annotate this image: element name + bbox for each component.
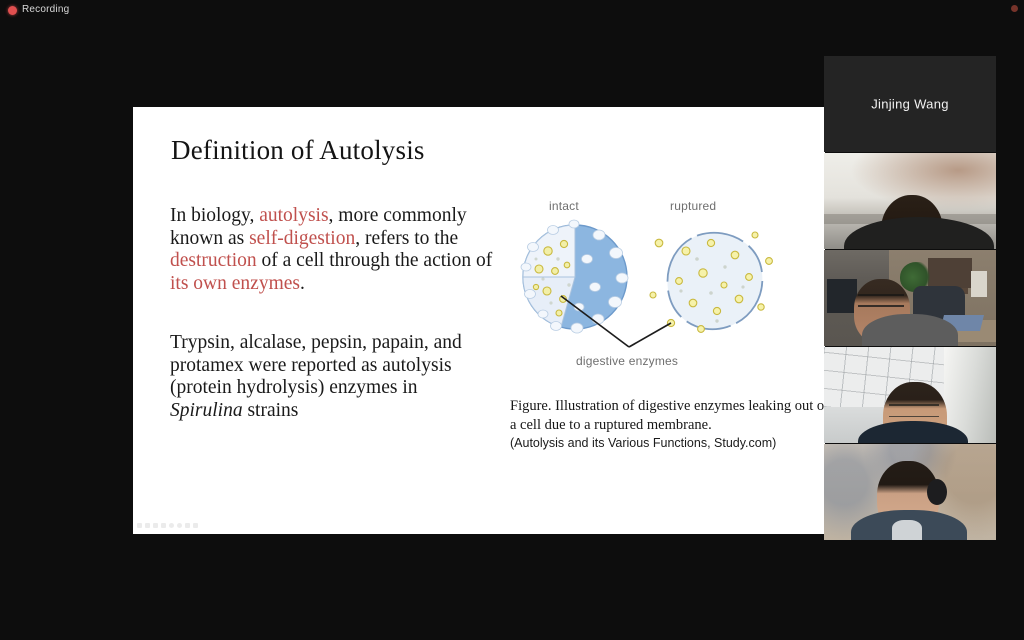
slide-status-glyphs [137, 523, 198, 528]
text-segment: strains [243, 400, 299, 421]
participant-video-feed [824, 347, 996, 443]
text-segment: destruction [170, 250, 257, 271]
ruptured-cell [650, 232, 772, 332]
slide-paragraph-definition: In biology, autolysis, more commonly kno… [170, 205, 495, 295]
participant-video-strip: Jinjing Wang [824, 56, 996, 540]
participant-tile-5[interactable] [824, 444, 996, 540]
figure-label-intact: intact [549, 199, 579, 213]
participant-tile-4[interactable] [824, 347, 996, 443]
slide-title: Definition of Autolysis [171, 135, 425, 166]
figure-caption-main: Figure. Illustration of digestive enzyme… [510, 398, 825, 433]
figure-caption: Figure. Illustration of digestive enzyme… [510, 397, 825, 451]
text-segment: self-digestion [249, 228, 355, 249]
meeting-screen-share-view: Recording Definition of Autolysis In bio… [0, 0, 1024, 640]
participant-tile-jinjing-wang[interactable]: Jinjing Wang [824, 56, 996, 152]
figure-label-digestive-enzymes: digestive enzymes [576, 354, 678, 368]
text-segment: . [300, 273, 305, 294]
recording-indicator: Recording [8, 5, 69, 15]
intact-cell [521, 220, 628, 333]
figure-label-ruptured: ruptured [670, 199, 716, 213]
text-segment: Trypsin, alcalase, pepsin, papain, and p… [170, 332, 462, 398]
participant-tile-2[interactable] [824, 153, 996, 249]
shared-slide[interactable]: Definition of Autolysis In biology, auto… [133, 107, 825, 534]
status-dot-icon[interactable] [1011, 5, 1018, 12]
text-segment: Spirulina [170, 400, 243, 421]
participant-video-feed [824, 444, 996, 540]
text-segment: In biology, [170, 205, 259, 226]
participant-video-feed [824, 250, 996, 346]
participant-video-feed [824, 153, 996, 249]
recording-label: Recording [22, 5, 69, 15]
participant-name-label: Jinjing Wang [824, 97, 996, 112]
text-segment: its own enzymes [170, 273, 300, 294]
figure-caption-source: (Autolysis and its Various Functions, St… [510, 436, 825, 451]
text-segment: , refers to the [355, 228, 458, 249]
slide-paragraph-enzymes: Trypsin, alcalase, pepsin, papain, and p… [170, 332, 492, 422]
participant-tile-3-active-speaker[interactable] [824, 250, 996, 346]
cell-diagram-figure: intact ruptured digestive enzymes [503, 199, 803, 384]
text-segment: of a cell through the action of [257, 250, 493, 271]
text-segment: autolysis [259, 205, 328, 226]
recording-dot-icon [8, 6, 17, 15]
